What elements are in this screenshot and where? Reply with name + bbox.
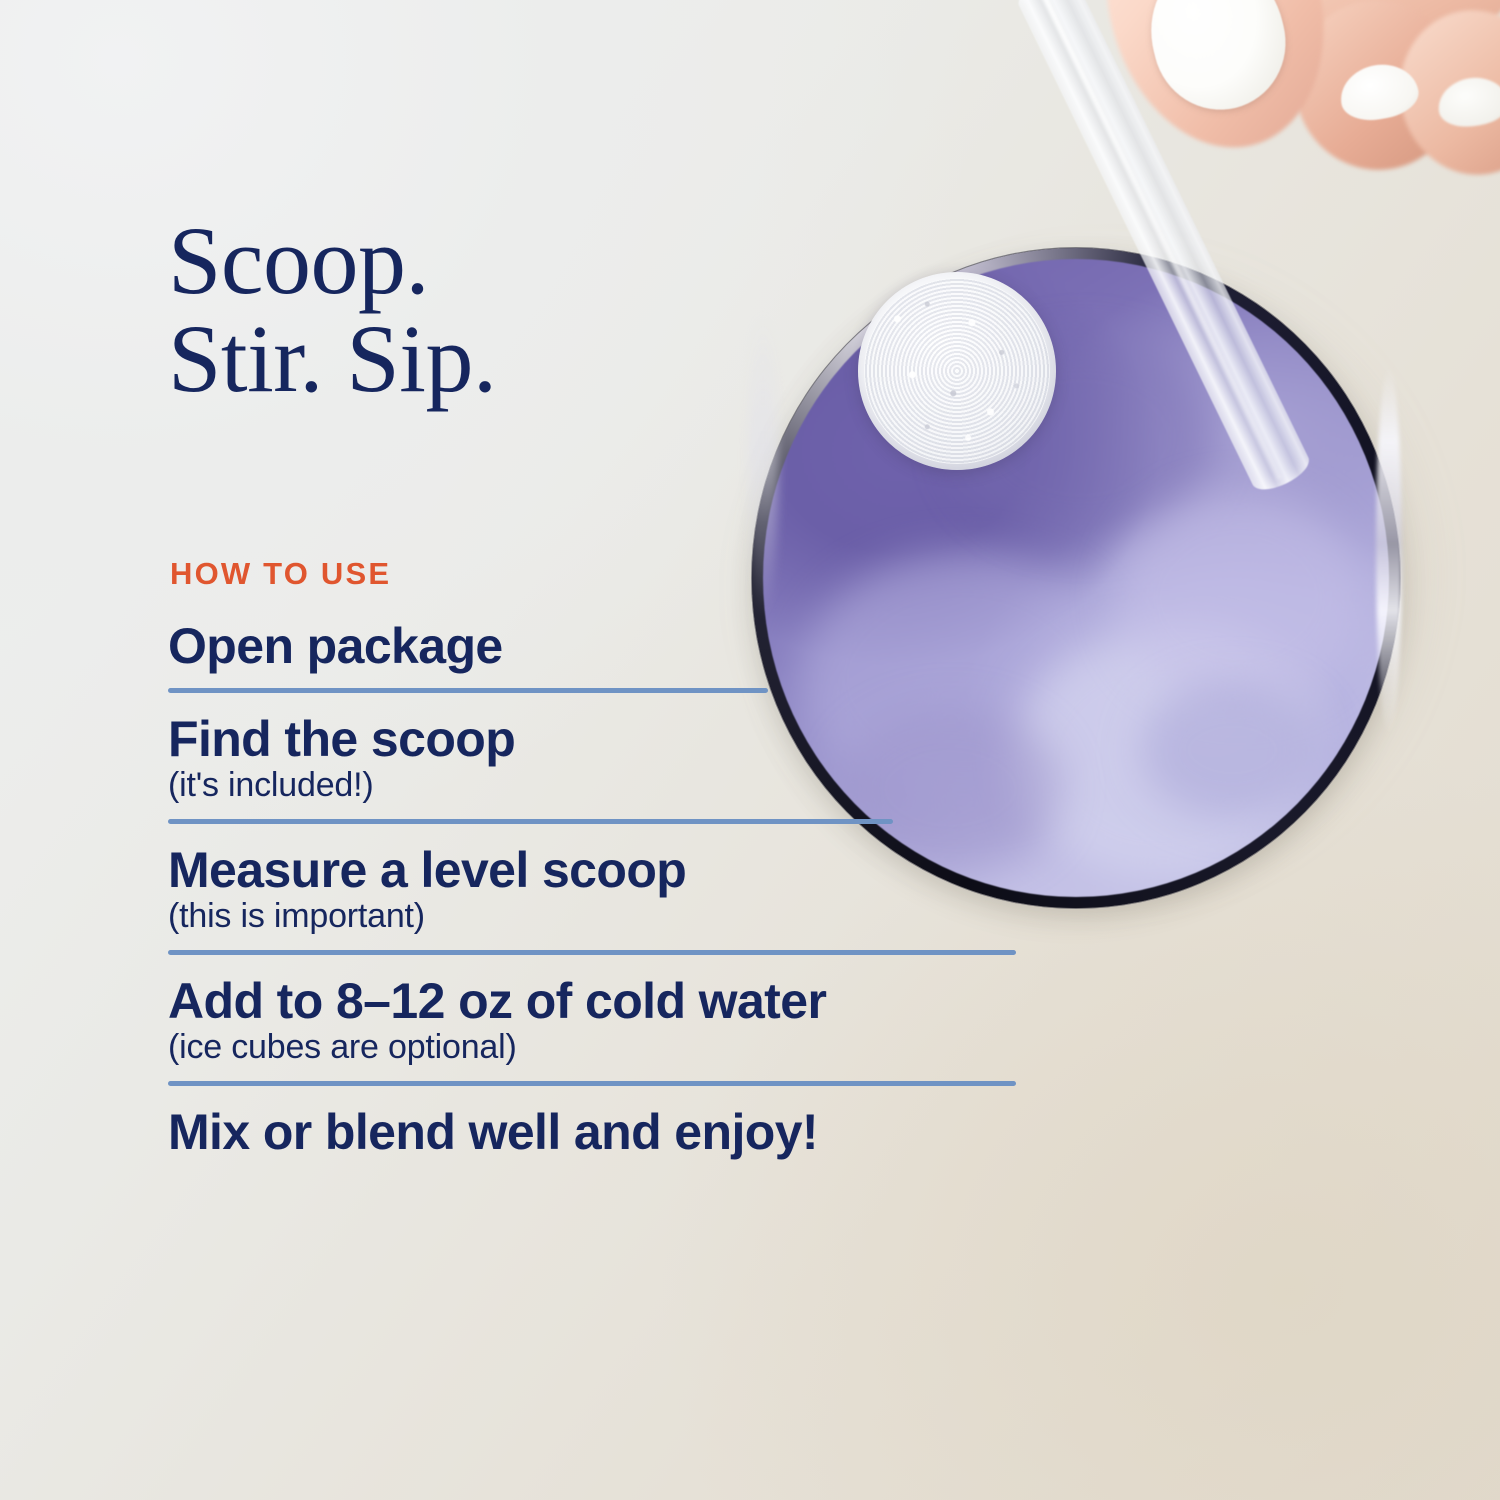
step-title: Measure a level scoop [168,842,1028,898]
step-subtitle: (this is important) [168,896,1028,936]
divider [168,688,768,693]
step-title: Add to 8–12 oz of cold water [168,973,1028,1029]
glass-rim-highlight [1376,367,1402,737]
step-item: Find the scoop (it's included!) [168,711,1028,805]
step-subtitle: (ice cubes are optional) [168,1027,1028,1067]
text-column: Scoop. Stir. Sip. HOW TO USE Open packag… [168,0,1068,1500]
hand-knuckles [1189,0,1500,91]
fingernail [1435,73,1500,130]
fingernail [1336,59,1422,126]
fingernail [1136,0,1300,124]
step-title: Find the scoop [168,711,1028,767]
middle-finger [1279,0,1476,185]
divider [168,819,893,824]
step-item: Mix or blend well and enjoy! [168,1104,1028,1160]
liquid-swirl [1114,489,1364,706]
divider [168,950,1016,955]
step-subtitle: (it's included!) [168,765,1028,805]
hand [1040,0,1500,240]
step-item: Add to 8–12 oz of cold water (ice cubes … [168,973,1028,1067]
liquid-swirl [1139,680,1327,820]
section-kicker: HOW TO USE [170,556,391,592]
step-title: Open package [168,618,1028,674]
step-title: Mix or blend well and enjoy! [168,1104,1028,1160]
page-title: Scoop. Stir. Sip. [168,212,496,408]
step-item: Measure a level scoop (this is important… [168,842,1028,936]
how-to-use-poster: Scoop. Stir. Sip. HOW TO USE Open packag… [0,0,1500,1500]
scoop-handle-highlight [1034,0,1282,480]
step-item: Open package [168,618,1028,674]
divider [168,1081,1016,1086]
index-finger [1074,0,1356,173]
how-to-use-steps: Open package Find the scoop (it's includ… [168,618,1028,1160]
ring-finger [1387,0,1500,187]
